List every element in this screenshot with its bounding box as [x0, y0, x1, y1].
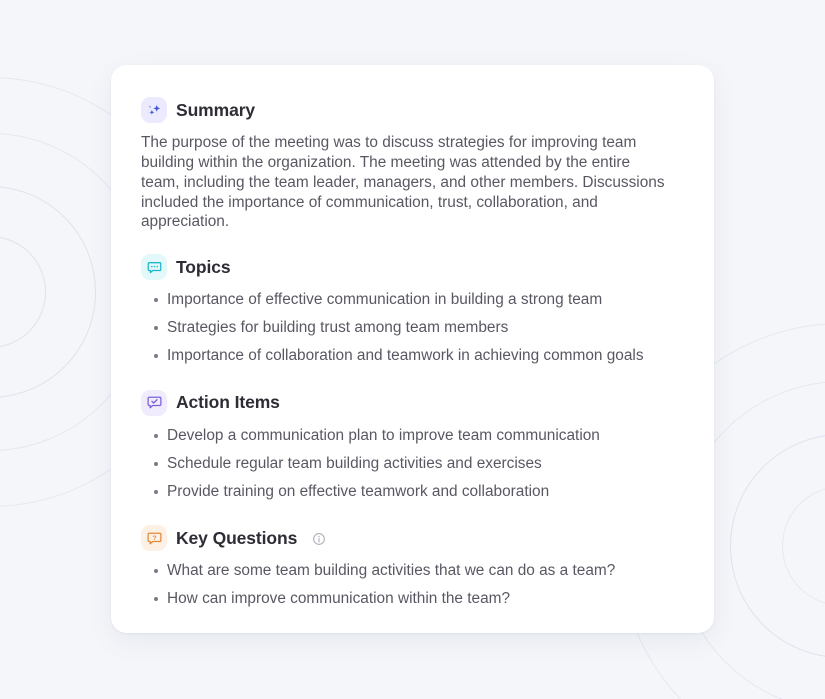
list-item: Importance of effective communication in…	[141, 290, 671, 310]
section-topics: Topics Importance of effective communica…	[141, 254, 684, 366]
section-summary-title: Summary	[176, 100, 255, 121]
deco-ring-right-1	[782, 486, 825, 606]
section-summary-header: Summary	[141, 97, 684, 123]
topics-list: Importance of effective communication in…	[141, 290, 684, 366]
list-item: Strategies for building trust among team…	[141, 318, 671, 338]
deco-ring-right-2	[730, 434, 825, 658]
sparkle-icon	[141, 97, 167, 123]
section-summary: Summary The purpose of the meeting was t…	[141, 97, 684, 232]
section-action-items-title: Action Items	[176, 392, 280, 413]
section-action-items: Action Items Develop a communication pla…	[141, 390, 684, 502]
list-item: Provide training on effective teamwork a…	[141, 482, 671, 502]
info-circle-icon[interactable]	[312, 532, 326, 546]
summary-paragraph: The purpose of the meeting was to discus…	[141, 133, 669, 232]
list-item: What are some team building activities t…	[141, 561, 671, 581]
list-item: Schedule regular team building activitie…	[141, 454, 671, 474]
list-item: Develop a communication plan to improve …	[141, 426, 671, 446]
meeting-notes-card: Summary The purpose of the meeting was t…	[111, 65, 714, 633]
section-key-questions-title: Key Questions	[176, 528, 297, 549]
deco-ring-left-1	[0, 236, 46, 348]
deco-ring-left-2	[0, 186, 96, 398]
section-key-questions-header: ? Key Questions	[141, 525, 684, 551]
chat-bubble-question-icon: ?	[141, 525, 167, 551]
key-questions-list: What are some team building activities t…	[141, 561, 684, 609]
chat-bubble-dots-icon	[141, 254, 167, 280]
chat-bubble-check-icon	[141, 390, 167, 416]
action-items-list: Develop a communication plan to improve …	[141, 426, 684, 502]
svg-text:?: ?	[152, 535, 156, 542]
list-item: Importance of collaboration and teamwork…	[141, 346, 671, 366]
list-item: How can improve communication within the…	[141, 589, 671, 609]
section-action-items-header: Action Items	[141, 390, 684, 416]
section-key-questions: ? Key Questions What are some team build…	[141, 525, 684, 609]
section-topics-header: Topics	[141, 254, 684, 280]
section-topics-title: Topics	[176, 257, 231, 278]
